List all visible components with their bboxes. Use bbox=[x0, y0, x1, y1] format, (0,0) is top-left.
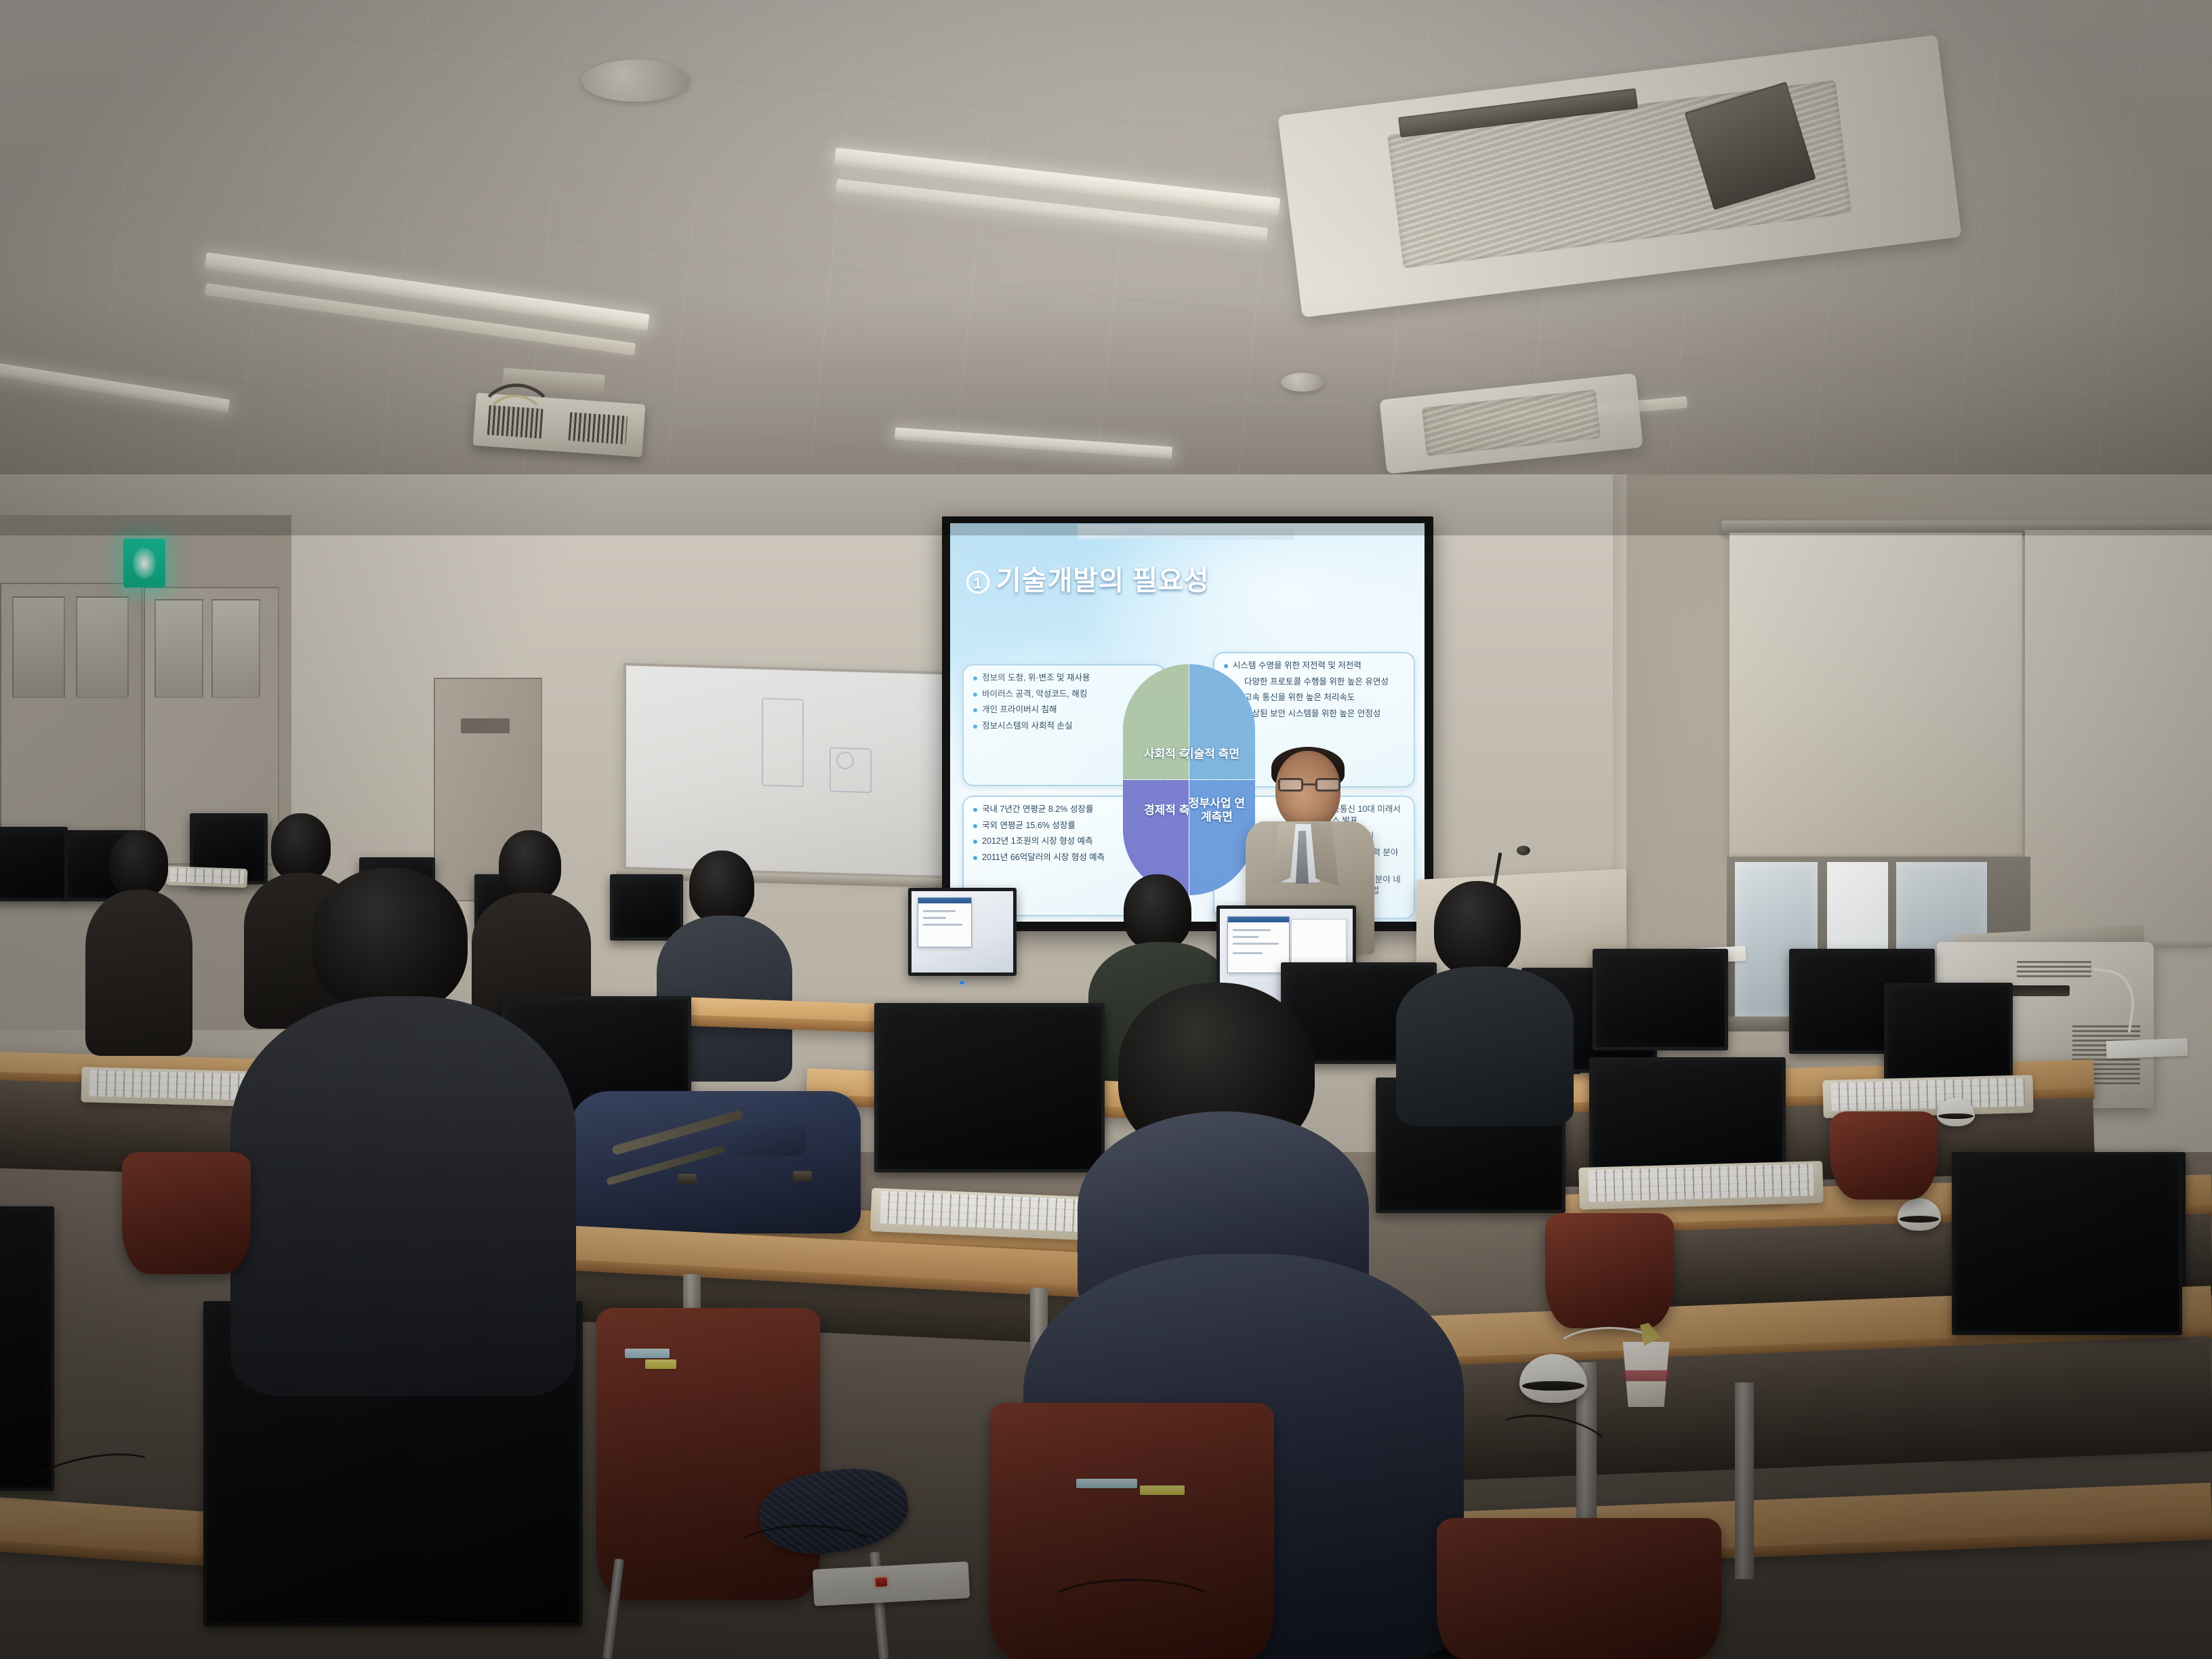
slide-number-badge: 1 bbox=[966, 571, 989, 594]
pie-label-technical: 기술적 측면 bbox=[1183, 747, 1240, 761]
classroom-photo-scene: 1기술개발의 필요성 정보의 도청, 위·변조 및 재사용 바이러스 공격, 악… bbox=[0, 0, 2212, 1659]
person-head bbox=[689, 851, 754, 924]
glasses-icon bbox=[1278, 778, 1340, 792]
light-gradient bbox=[0, 0, 2212, 535]
monitor-screen bbox=[1884, 983, 2013, 1081]
glasses-bridge bbox=[1303, 783, 1315, 785]
monitor-screen bbox=[0, 827, 68, 901]
audience-member-left bbox=[224, 867, 576, 1396]
microphone-icon bbox=[1517, 846, 1530, 855]
power-led bbox=[960, 981, 964, 984]
monitor-screen bbox=[0, 1206, 54, 1491]
cup-label-band bbox=[1621, 1370, 1671, 1381]
person-head bbox=[312, 867, 468, 1013]
backpack-buckle bbox=[678, 1174, 697, 1185]
chair[interactable] bbox=[1830, 1111, 1938, 1200]
glasses-lens-right bbox=[1315, 778, 1340, 792]
audience-member bbox=[88, 830, 190, 1054]
chair[interactable] bbox=[1545, 1213, 1674, 1328]
whiteboard bbox=[623, 663, 962, 879]
monitor[interactable] bbox=[1884, 983, 2013, 1081]
chair[interactable] bbox=[122, 1152, 251, 1274]
keyboard-keys bbox=[1589, 1164, 1814, 1202]
person-torso bbox=[85, 890, 192, 1056]
paper-stack bbox=[2106, 1038, 2188, 1059]
application-window[interactable] bbox=[918, 897, 972, 947]
person-head bbox=[1434, 881, 1521, 976]
asset-label-sticker bbox=[625, 1349, 670, 1358]
person-torso bbox=[230, 996, 576, 1396]
monitor[interactable] bbox=[908, 888, 1017, 976]
keyboard[interactable] bbox=[1578, 1161, 1824, 1210]
monitor[interactable] bbox=[0, 827, 68, 901]
person-torso bbox=[1396, 966, 1574, 1126]
window-text-line bbox=[1233, 943, 1279, 945]
slide-title: 1기술개발의 필요성 bbox=[966, 558, 1210, 598]
floor-cable bbox=[1044, 1579, 1220, 1633]
window-titlebar bbox=[918, 898, 971, 903]
audience-member-right bbox=[1396, 881, 1572, 1125]
window-text-line bbox=[923, 924, 962, 926]
door-sign bbox=[461, 718, 510, 733]
chair-backrest bbox=[1545, 1213, 1674, 1328]
roller-blind-right[interactable] bbox=[2025, 530, 2212, 947]
monitor-screen bbox=[1593, 949, 1728, 1050]
desk-leg bbox=[1735, 1382, 1754, 1579]
chair-backrest bbox=[1437, 1518, 1721, 1659]
person-head bbox=[110, 830, 168, 898]
exit-sign bbox=[123, 539, 165, 588]
backpack-strap bbox=[725, 1117, 806, 1156]
door-window bbox=[12, 596, 65, 698]
door-window bbox=[211, 599, 260, 698]
backpack bbox=[569, 1091, 861, 1233]
roller-blind-left[interactable] bbox=[1729, 533, 2022, 859]
window-text-line bbox=[1233, 952, 1263, 954]
door-window bbox=[155, 599, 203, 698]
asset-label-sticker bbox=[1140, 1486, 1185, 1495]
exit-sign-glow bbox=[133, 548, 157, 579]
mouse-band bbox=[1900, 1216, 1940, 1223]
floor-cable bbox=[732, 1525, 881, 1586]
keyboard-keys bbox=[1831, 1078, 2025, 1111]
monitor-screen bbox=[1952, 1152, 2182, 1335]
whiteboard-marking bbox=[836, 752, 854, 770]
person-head bbox=[1124, 874, 1191, 950]
monitor[interactable] bbox=[1593, 949, 1728, 1050]
window-text-line bbox=[923, 910, 956, 912]
window-text-line bbox=[1233, 929, 1271, 931]
printer-vent bbox=[2017, 961, 2091, 977]
mouse-band bbox=[1938, 1113, 1973, 1119]
asset-label-sticker bbox=[1076, 1479, 1137, 1488]
pie-label-government: 정부사업 연계측면 bbox=[1184, 797, 1250, 823]
chair-backrest bbox=[122, 1152, 251, 1274]
slide-quadrant-circle: 사회적 측면 기술적 측면 경제적 측면 정부사업 연계측면 bbox=[1123, 664, 1255, 895]
window-titlebar bbox=[1228, 917, 1289, 922]
mouse-band bbox=[1522, 1381, 1584, 1391]
whiteboard-marking bbox=[762, 698, 804, 787]
chair-backrest bbox=[1830, 1111, 1938, 1200]
window-text-line bbox=[1233, 936, 1258, 938]
asset-label-sticker bbox=[645, 1359, 676, 1369]
door-window bbox=[76, 596, 129, 698]
monitor[interactable] bbox=[0, 1206, 54, 1491]
monitor[interactable] bbox=[1952, 1152, 2182, 1335]
window-text-line bbox=[923, 917, 946, 919]
chair[interactable] bbox=[1437, 1518, 1721, 1659]
slide-title-text: 기술개발의 필요성 bbox=[996, 566, 1210, 596]
pie-slice-social: 사회적 측면 bbox=[1123, 664, 1189, 779]
backpack-buckle bbox=[793, 1171, 812, 1182]
glasses-lens-left bbox=[1278, 778, 1303, 792]
